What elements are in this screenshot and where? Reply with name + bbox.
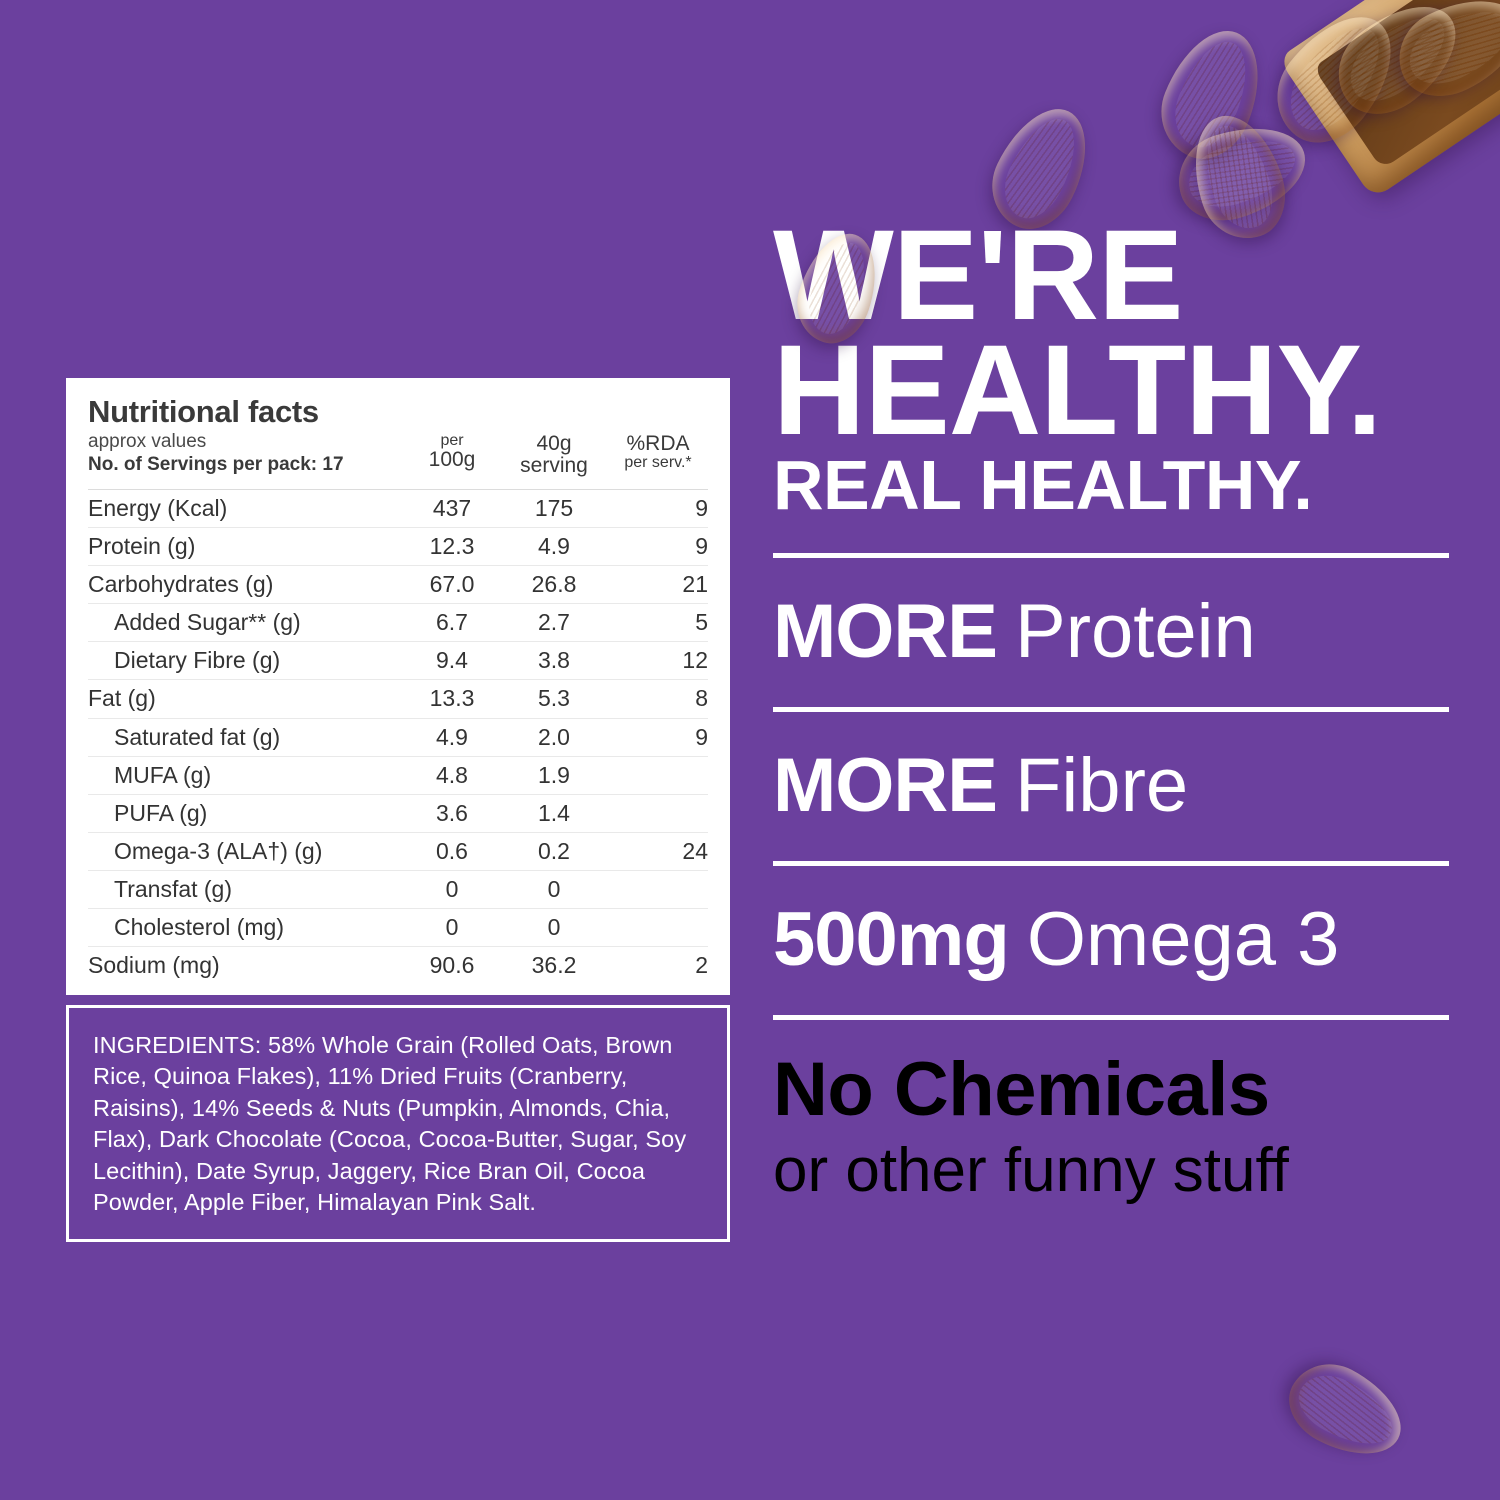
value-per-100g: 0 xyxy=(404,871,500,909)
benefit-row-fibre: MORE Fibre xyxy=(773,712,1449,861)
nutrition-header: Nutritional facts approx values No. of S… xyxy=(88,396,708,481)
table-row: Cholesterol (mg)00 xyxy=(88,909,708,947)
nutrient-label: MUFA (g) xyxy=(88,756,404,794)
nutrient-label: Cholesterol (mg) xyxy=(88,909,404,947)
value-per-100g: 12.3 xyxy=(404,527,500,565)
table-row: Energy (Kcal)4371759 xyxy=(88,489,708,527)
table-row: Saturated fat (g)4.92.09 xyxy=(88,718,708,756)
benefit-bold-label: No Chemicals xyxy=(773,1046,1449,1133)
value-per-serving: 26.8 xyxy=(500,566,608,604)
value-rda: 24 xyxy=(608,833,708,871)
value-per-100g: 437 xyxy=(404,489,500,527)
marketing-panel: WE'RE HEALTHY. REAL HEALTHY. MORE Protei… xyxy=(773,218,1449,1206)
value-per-serving: 1.4 xyxy=(500,794,608,832)
value-per-100g: 9.4 xyxy=(404,642,500,680)
benefit-light-label: Fibre xyxy=(1015,742,1188,829)
ingredients-box: INGREDIENTS: 58% Whole Grain (Rolled Oat… xyxy=(66,1005,730,1242)
benefit-bold-label: MORE xyxy=(773,588,997,675)
value-rda: 12 xyxy=(608,642,708,680)
value-per-serving: 0 xyxy=(500,871,608,909)
almond-icon xyxy=(1276,1349,1417,1473)
value-rda: 8 xyxy=(608,680,708,718)
value-rda: 5 xyxy=(608,604,708,642)
value-rda: 9 xyxy=(608,489,708,527)
table-row: Added Sugar** (g)6.72.75 xyxy=(88,604,708,642)
table-row: Omega-3 (ALA†) (g)0.60.224 xyxy=(88,833,708,871)
nutrient-label: Sodium (mg) xyxy=(88,947,404,985)
benefit-row-omega3: 500mg Omega 3 xyxy=(773,866,1449,1015)
nutrient-label: PUFA (g) xyxy=(88,794,404,832)
benefit-light-label: Protein xyxy=(1015,588,1256,675)
value-per-serving: 2.7 xyxy=(500,604,608,642)
value-per-serving: 36.2 xyxy=(500,947,608,985)
nutrition-title: Nutritional facts xyxy=(88,396,404,428)
table-row: MUFA (g)4.81.9 xyxy=(88,756,708,794)
nutrient-label: Transfat (g) xyxy=(88,871,404,909)
value-per-100g: 6.7 xyxy=(404,604,500,642)
column-header-40g-serving: 40g serving xyxy=(500,433,608,481)
value-per-serving: 5.3 xyxy=(500,680,608,718)
nutrient-label: Carbohydrates (g) xyxy=(88,566,404,604)
headline-line-3: REAL HEALTHY. xyxy=(773,454,1449,517)
nutrition-facts-card: Nutritional facts approx values No. of S… xyxy=(66,378,730,995)
column-header-rda: %RDA per serv.* xyxy=(608,433,708,481)
value-per-100g: 3.6 xyxy=(404,794,500,832)
value-per-serving: 0.2 xyxy=(500,833,608,871)
value-per-serving: 4.9 xyxy=(500,527,608,565)
benefit-row-protein: MORE Protein xyxy=(773,558,1449,707)
benefit-sub-label: or other funny stuff xyxy=(773,1135,1449,1206)
value-rda xyxy=(608,871,708,909)
value-per-serving: 1.9 xyxy=(500,756,608,794)
table-row: Dietary Fibre (g)9.43.812 xyxy=(88,642,708,680)
nutrient-label: Omega-3 (ALA†) (g) xyxy=(88,833,404,871)
nutrient-label: Energy (Kcal) xyxy=(88,489,404,527)
table-row: PUFA (g)3.61.4 xyxy=(88,794,708,832)
value-per-serving: 2.0 xyxy=(500,718,608,756)
value-rda xyxy=(608,756,708,794)
value-per-serving: 3.8 xyxy=(500,642,608,680)
column-header-per-100g: per 100g xyxy=(404,433,500,481)
value-rda xyxy=(608,794,708,832)
nutrient-label: Dietary Fibre (g) xyxy=(88,642,404,680)
value-per-100g: 13.3 xyxy=(404,680,500,718)
value-per-100g: 4.9 xyxy=(404,718,500,756)
value-per-100g: 4.8 xyxy=(404,756,500,794)
table-row: Transfat (g)00 xyxy=(88,871,708,909)
table-row: Protein (g)12.34.99 xyxy=(88,527,708,565)
value-rda: 9 xyxy=(608,527,708,565)
benefit-bold-label: 500mg xyxy=(773,896,1009,983)
benefit-bold-label: MORE xyxy=(773,742,997,829)
servings-per-pack-label: No. of Servings per pack: 17 xyxy=(88,454,404,477)
table-row: Fat (g)13.35.38 xyxy=(88,680,708,718)
nutrition-table: Energy (Kcal)4371759Protein (g)12.34.99C… xyxy=(88,489,708,985)
approx-values-label: approx values xyxy=(88,430,404,454)
value-rda: 2 xyxy=(608,947,708,985)
value-per-100g: 90.6 xyxy=(404,947,500,985)
nutrient-label: Protein (g) xyxy=(88,527,404,565)
value-rda: 9 xyxy=(608,718,708,756)
value-per-100g: 0 xyxy=(404,909,500,947)
value-rda xyxy=(608,909,708,947)
nutrient-label: Fat (g) xyxy=(88,680,404,718)
table-row: Sodium (mg)90.636.22 xyxy=(88,947,708,985)
table-row: Carbohydrates (g)67.026.821 xyxy=(88,566,708,604)
ingredients-text: INGREDIENTS: 58% Whole Grain (Rolled Oat… xyxy=(93,1030,703,1219)
value-per-100g: 0.6 xyxy=(404,833,500,871)
value-per-100g: 67.0 xyxy=(404,566,500,604)
headline-line-2: HEALTHY. xyxy=(773,333,1449,448)
value-per-serving: 0 xyxy=(500,909,608,947)
benefit-row-no-chemicals: No Chemicals or other funny stuff xyxy=(773,1020,1449,1206)
nutrient-label: Added Sugar** (g) xyxy=(88,604,404,642)
nutrient-label: Saturated fat (g) xyxy=(88,718,404,756)
value-per-serving: 175 xyxy=(500,489,608,527)
benefit-light-label: Omega 3 xyxy=(1027,896,1340,983)
value-rda: 21 xyxy=(608,566,708,604)
